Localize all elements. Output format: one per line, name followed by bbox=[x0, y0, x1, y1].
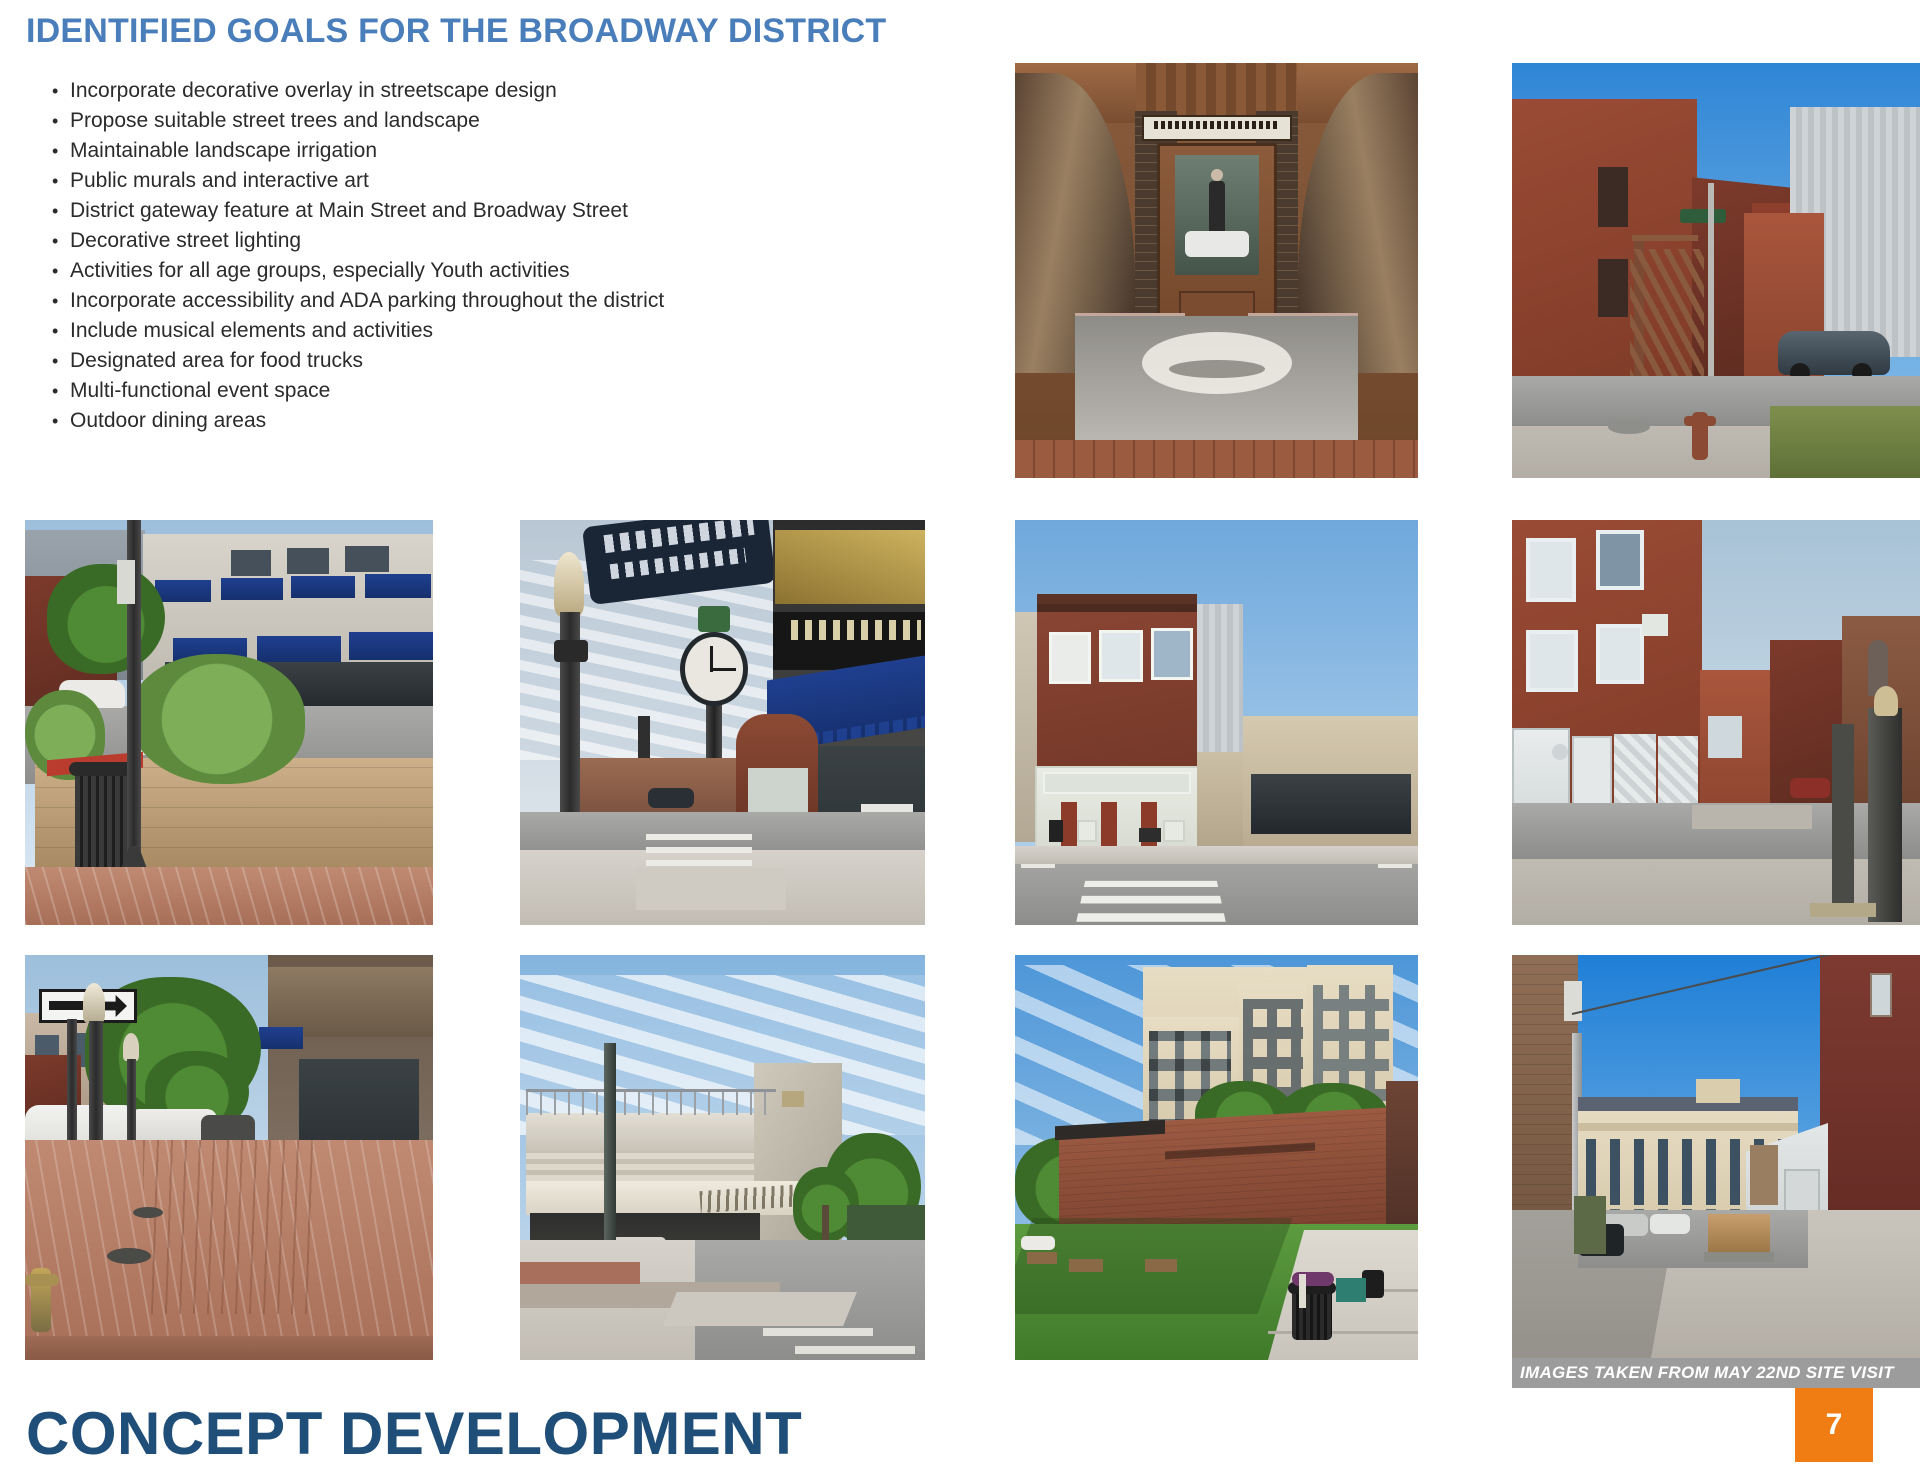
goal-text: Multi-functional event space bbox=[70, 376, 330, 406]
bullet-icon: • bbox=[26, 406, 70, 436]
list-item: • Activities for all age groups, especia… bbox=[26, 256, 786, 286]
bullet-icon: • bbox=[26, 76, 70, 106]
photo-alley-courthouse bbox=[1512, 955, 1920, 1360]
list-item: • Outdoor dining areas bbox=[26, 406, 786, 436]
list-item: • Designated area for food trucks bbox=[26, 346, 786, 376]
photo-brick-facade bbox=[1015, 520, 1418, 925]
list-item: • District gateway feature at Main Stree… bbox=[26, 196, 786, 226]
goal-text: Activities for all age groups, especiall… bbox=[70, 256, 570, 286]
bullet-icon: • bbox=[26, 256, 70, 286]
goal-text: Maintainable landscape irrigation bbox=[70, 136, 377, 166]
goal-text: Propose suitable street trees and landsc… bbox=[70, 106, 480, 136]
photo-storefront-entry bbox=[1015, 63, 1418, 478]
image-credit-bar: IMAGES TAKEN FROM MAY 22ND SITE VISIT bbox=[1512, 1358, 1920, 1388]
page-number-badge: 7 bbox=[1795, 1388, 1873, 1462]
goals-list: • Incorporate decorative overlay in stre… bbox=[26, 76, 786, 436]
goal-text: Public murals and interactive art bbox=[70, 166, 369, 196]
goal-text: Incorporate decorative overlay in street… bbox=[70, 76, 557, 106]
list-item: • Incorporate decorative overlay in stre… bbox=[26, 76, 786, 106]
page-title: IDENTIFIED GOALS FOR THE BROADWAY DISTRI… bbox=[26, 12, 886, 51]
list-item: • Propose suitable street trees and land… bbox=[26, 106, 786, 136]
bullet-icon: • bbox=[26, 346, 70, 376]
photo-alley-fire-escape bbox=[1512, 63, 1920, 478]
photo-one-way-sidewalk bbox=[25, 955, 433, 1360]
photo-parking-deck bbox=[520, 955, 925, 1360]
bullet-icon: • bbox=[26, 226, 70, 256]
goal-text: District gateway feature at Main Street … bbox=[70, 196, 628, 226]
list-item: • Multi-functional event space bbox=[26, 376, 786, 406]
slide-root: IDENTIFIED GOALS FOR THE BROADWAY DISTRI… bbox=[0, 0, 1920, 1484]
bullet-icon: • bbox=[26, 286, 70, 316]
goal-text: Incorporate accessibility and ADA parkin… bbox=[70, 286, 664, 316]
photo-street-clock bbox=[520, 520, 925, 925]
bullet-icon: • bbox=[26, 136, 70, 166]
list-item: • Public murals and interactive art bbox=[26, 166, 786, 196]
list-item: • Decorative street lighting bbox=[26, 226, 786, 256]
bullet-icon: • bbox=[26, 106, 70, 136]
goal-text: Designated area for food trucks bbox=[70, 346, 363, 376]
list-item: • Include musical elements and activitie… bbox=[26, 316, 786, 346]
section-title: CONCEPT DEVELOPMENT bbox=[26, 1399, 802, 1468]
photo-trash-planter bbox=[25, 520, 433, 925]
bullet-icon: • bbox=[26, 196, 70, 226]
bullet-icon: • bbox=[26, 316, 70, 346]
photo-rear-alley-white bbox=[1512, 520, 1920, 925]
bullet-icon: • bbox=[26, 166, 70, 196]
goal-text: Decorative street lighting bbox=[70, 226, 301, 256]
bullet-icon: • bbox=[26, 376, 70, 406]
goal-text: Outdoor dining areas bbox=[70, 406, 266, 436]
photo-lawn-brick-wall bbox=[1015, 955, 1418, 1360]
list-item: • Maintainable landscape irrigation bbox=[26, 136, 786, 166]
goal-text: Include musical elements and activities bbox=[70, 316, 433, 346]
list-item: • Incorporate accessibility and ADA park… bbox=[26, 286, 786, 316]
